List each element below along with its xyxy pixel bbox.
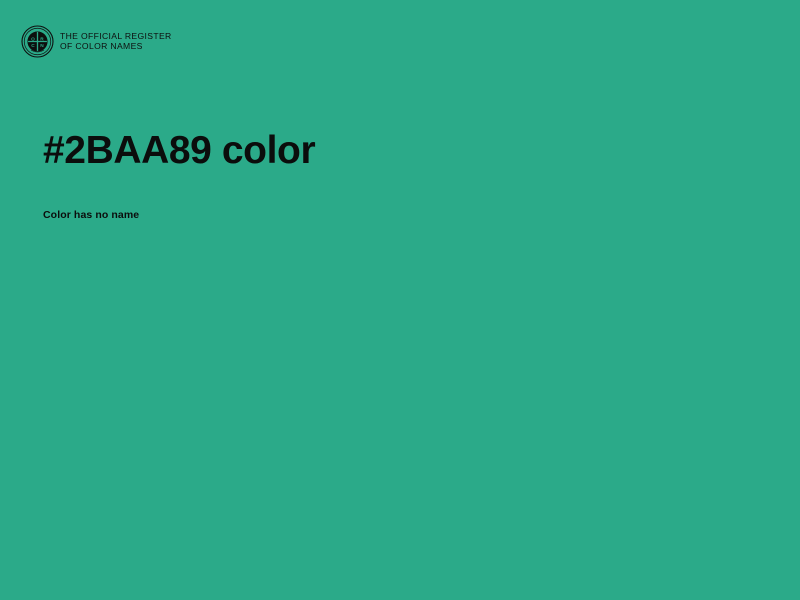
brand-lockup[interactable]: O R C N THE OFFICIAL REGISTER OF COLOR N… xyxy=(21,25,172,58)
svg-text:R: R xyxy=(40,37,44,43)
color-detail: #2BAA89 color Color has no name xyxy=(43,128,683,222)
svg-text:O: O xyxy=(31,37,35,43)
brand-line-2: OF COLOR NAMES xyxy=(60,42,172,52)
color-page: O R C N THE OFFICIAL REGISTER OF COLOR N… xyxy=(0,0,800,600)
svg-text:C: C xyxy=(31,43,35,49)
page-title: #2BAA89 color xyxy=(43,128,683,174)
brand-text: THE OFFICIAL REGISTER OF COLOR NAMES xyxy=(60,32,172,51)
register-seal-icon: O R C N xyxy=(21,25,54,58)
color-name-status: Color has no name xyxy=(43,174,683,222)
svg-text:N: N xyxy=(40,43,44,49)
